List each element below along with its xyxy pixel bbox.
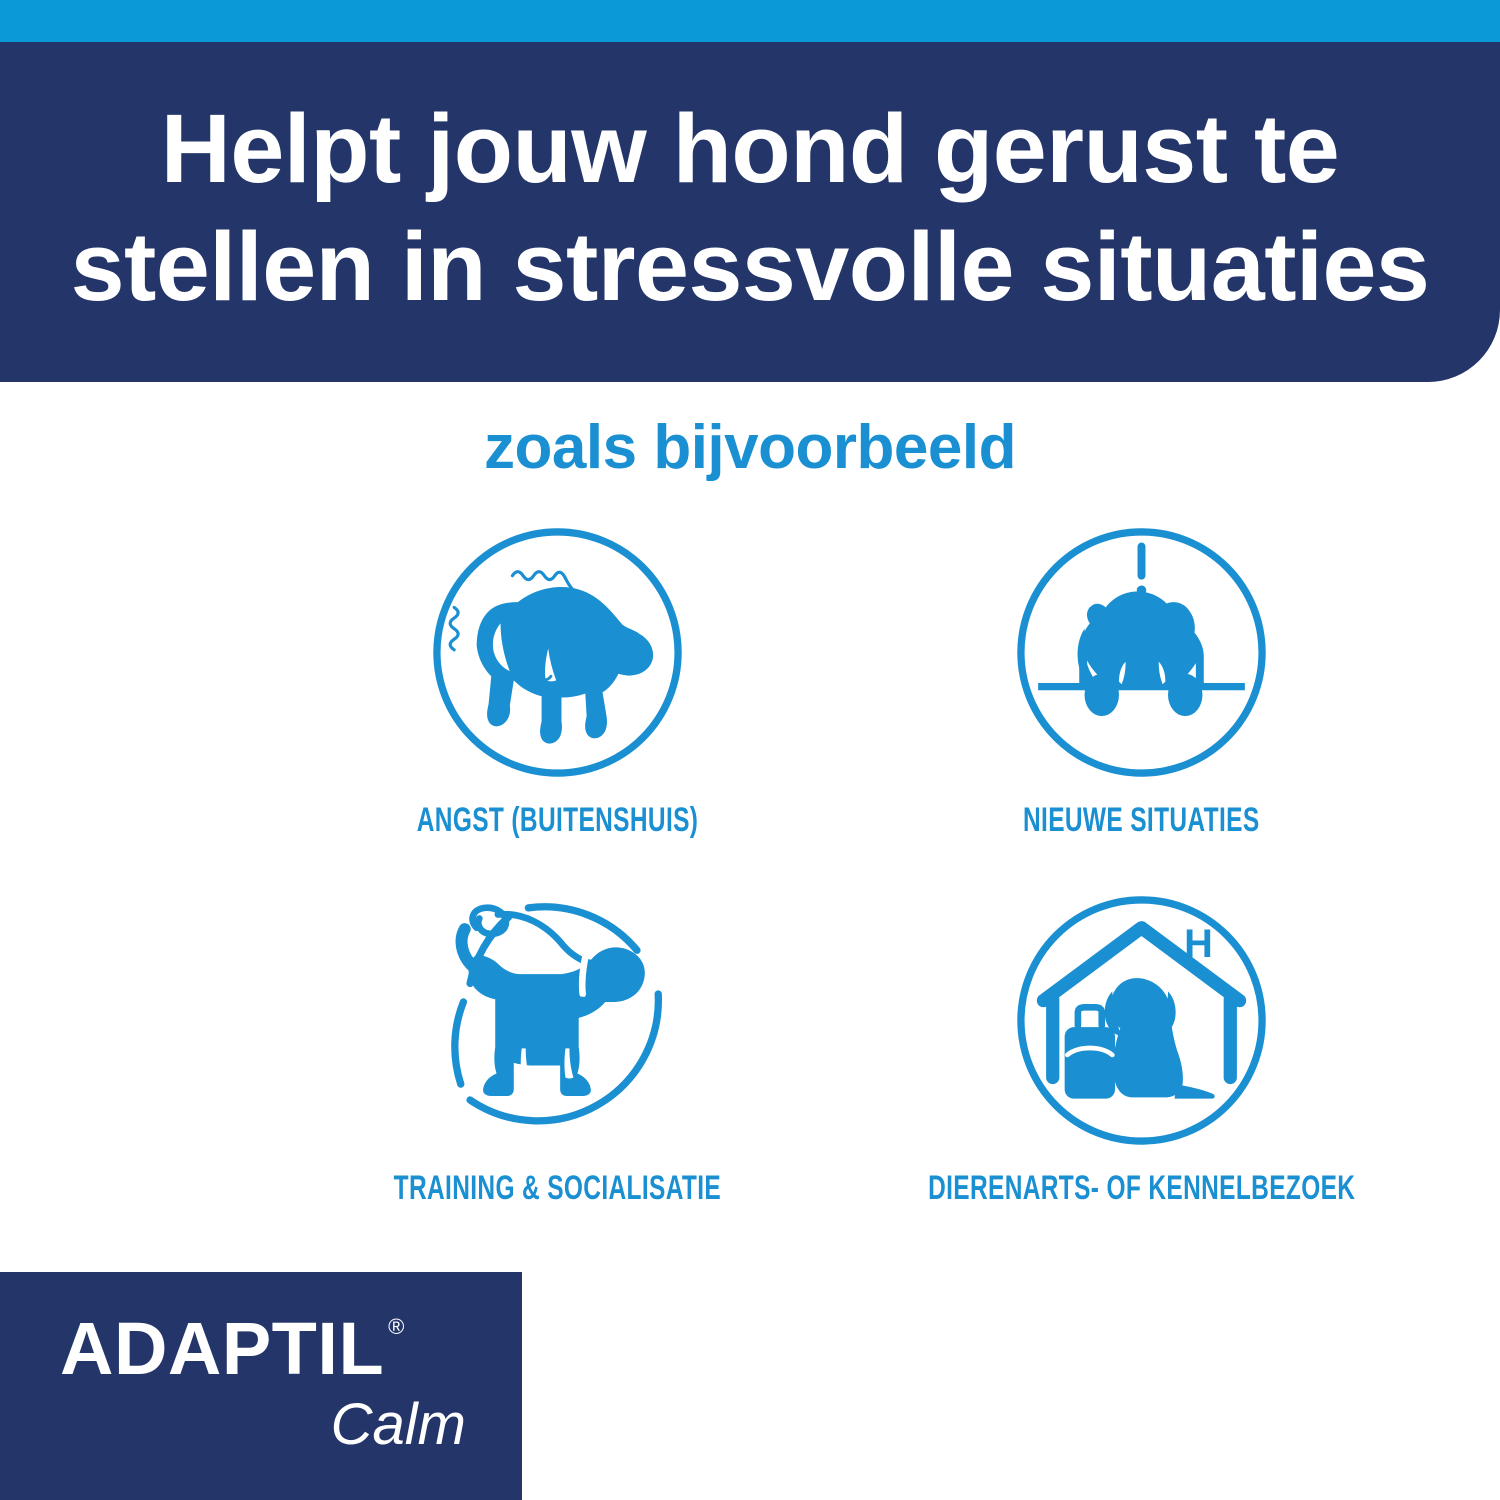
brand-wordmark: ADAPTIL ® xyxy=(60,1312,470,1386)
subtitle: zoals bijvoorbeeld xyxy=(0,412,1500,483)
situation-label: ANGST (BUITENSHUIS) xyxy=(417,801,699,840)
svg-text:H: H xyxy=(1184,922,1213,966)
situation-label: DIERENARTS- OF KENNELBEZOEK xyxy=(928,1169,1355,1208)
brand-sub-name: Calm xyxy=(60,1396,470,1454)
page-title: Helpt jouw hond gerust te stellen in str… xyxy=(71,90,1430,327)
registered-trademark-icon: ® xyxy=(388,1316,405,1338)
headline-line-1: Helpt jouw hond gerust te xyxy=(161,94,1339,203)
brand-logo-block: ADAPTIL ® Calm xyxy=(0,1272,522,1500)
situation-item-nieuwe-situaties[interactable]: NIEUWE SITUATIES xyxy=(845,520,1438,840)
top-accent-strip xyxy=(0,0,1500,42)
situations-icon-grid: ANGST (BUITENSHUIS) NIEUWE SITUATIES xyxy=(330,520,1200,1208)
situation-item-training[interactable]: TRAINING & SOCIALISATIE xyxy=(330,888,785,1208)
brand-name: ADAPTIL xyxy=(60,1312,384,1386)
header-panel: Helpt jouw hond gerust te stellen in str… xyxy=(0,42,1500,382)
cowering-trembling-dog-icon xyxy=(425,520,690,785)
dog-peering-over-wall-exclamation-icon xyxy=(1009,520,1274,785)
dog-house-suitcase-hospital-icon: H xyxy=(1009,888,1274,1153)
situation-item-dierenarts[interactable]: H DIERENARTS- OF KENNELBEZOEK xyxy=(845,888,1438,1208)
headline-line-2: stellen in stressvolle situaties xyxy=(71,208,1430,326)
situation-label: TRAINING & SOCIALISATIE xyxy=(394,1169,721,1208)
dog-on-leash-icon xyxy=(425,888,690,1153)
situation-label: NIEUWE SITUATIES xyxy=(1023,801,1260,840)
situation-item-angst[interactable]: ANGST (BUITENSHUIS) xyxy=(330,520,785,840)
